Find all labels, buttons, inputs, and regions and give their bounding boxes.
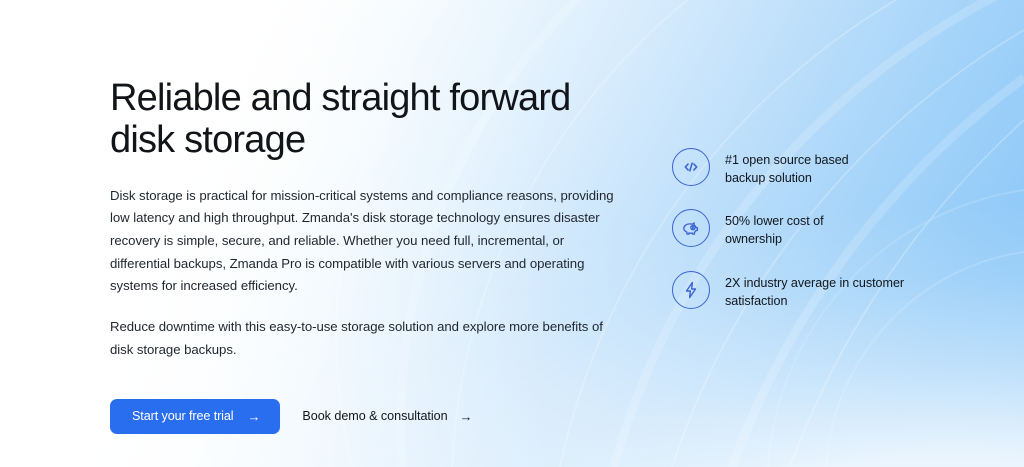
feature-item-open-source: #1 open source based backup solution: [672, 148, 972, 187]
hero-copy-column: Reliable and straight forward disk stora…: [110, 78, 630, 434]
feature-item-lower-cost: 50% lower cost of ownership: [672, 209, 972, 248]
start-free-trial-button[interactable]: Start your free trial →: [110, 399, 280, 434]
arrow-right-icon: →: [460, 410, 473, 423]
book-demo-label: Book demo & consultation: [302, 410, 447, 423]
page-title: Reliable and straight forward disk stora…: [110, 78, 630, 162]
hero-content: Reliable and straight forward disk stora…: [0, 0, 1024, 467]
start-free-trial-label: Start your free trial: [132, 410, 234, 423]
feature-label: 2X industry average in customer satisfac…: [725, 271, 904, 310]
code-brackets-icon: [672, 148, 710, 186]
piggy-bank-icon: [672, 209, 710, 247]
feature-item-satisfaction: 2X industry average in customer satisfac…: [672, 271, 972, 310]
hero-paragraph-2: Reduce downtime with this easy-to-use st…: [110, 316, 622, 361]
hero-paragraph-1: Disk storage is practical for mission-cr…: [110, 185, 622, 299]
hero-section: Reliable and straight forward disk stora…: [0, 0, 1024, 467]
feature-label: #1 open source based backup solution: [725, 148, 849, 187]
arrow-right-icon: →: [248, 410, 261, 423]
feature-list: #1 open source based backup solution 50%…: [672, 148, 972, 310]
lightning-bolt-icon: [672, 271, 710, 309]
cta-row: Start your free trial → Book demo & cons…: [110, 399, 630, 434]
book-demo-link[interactable]: Book demo & consultation →: [298, 404, 476, 429]
feature-label: 50% lower cost of ownership: [725, 209, 824, 248]
